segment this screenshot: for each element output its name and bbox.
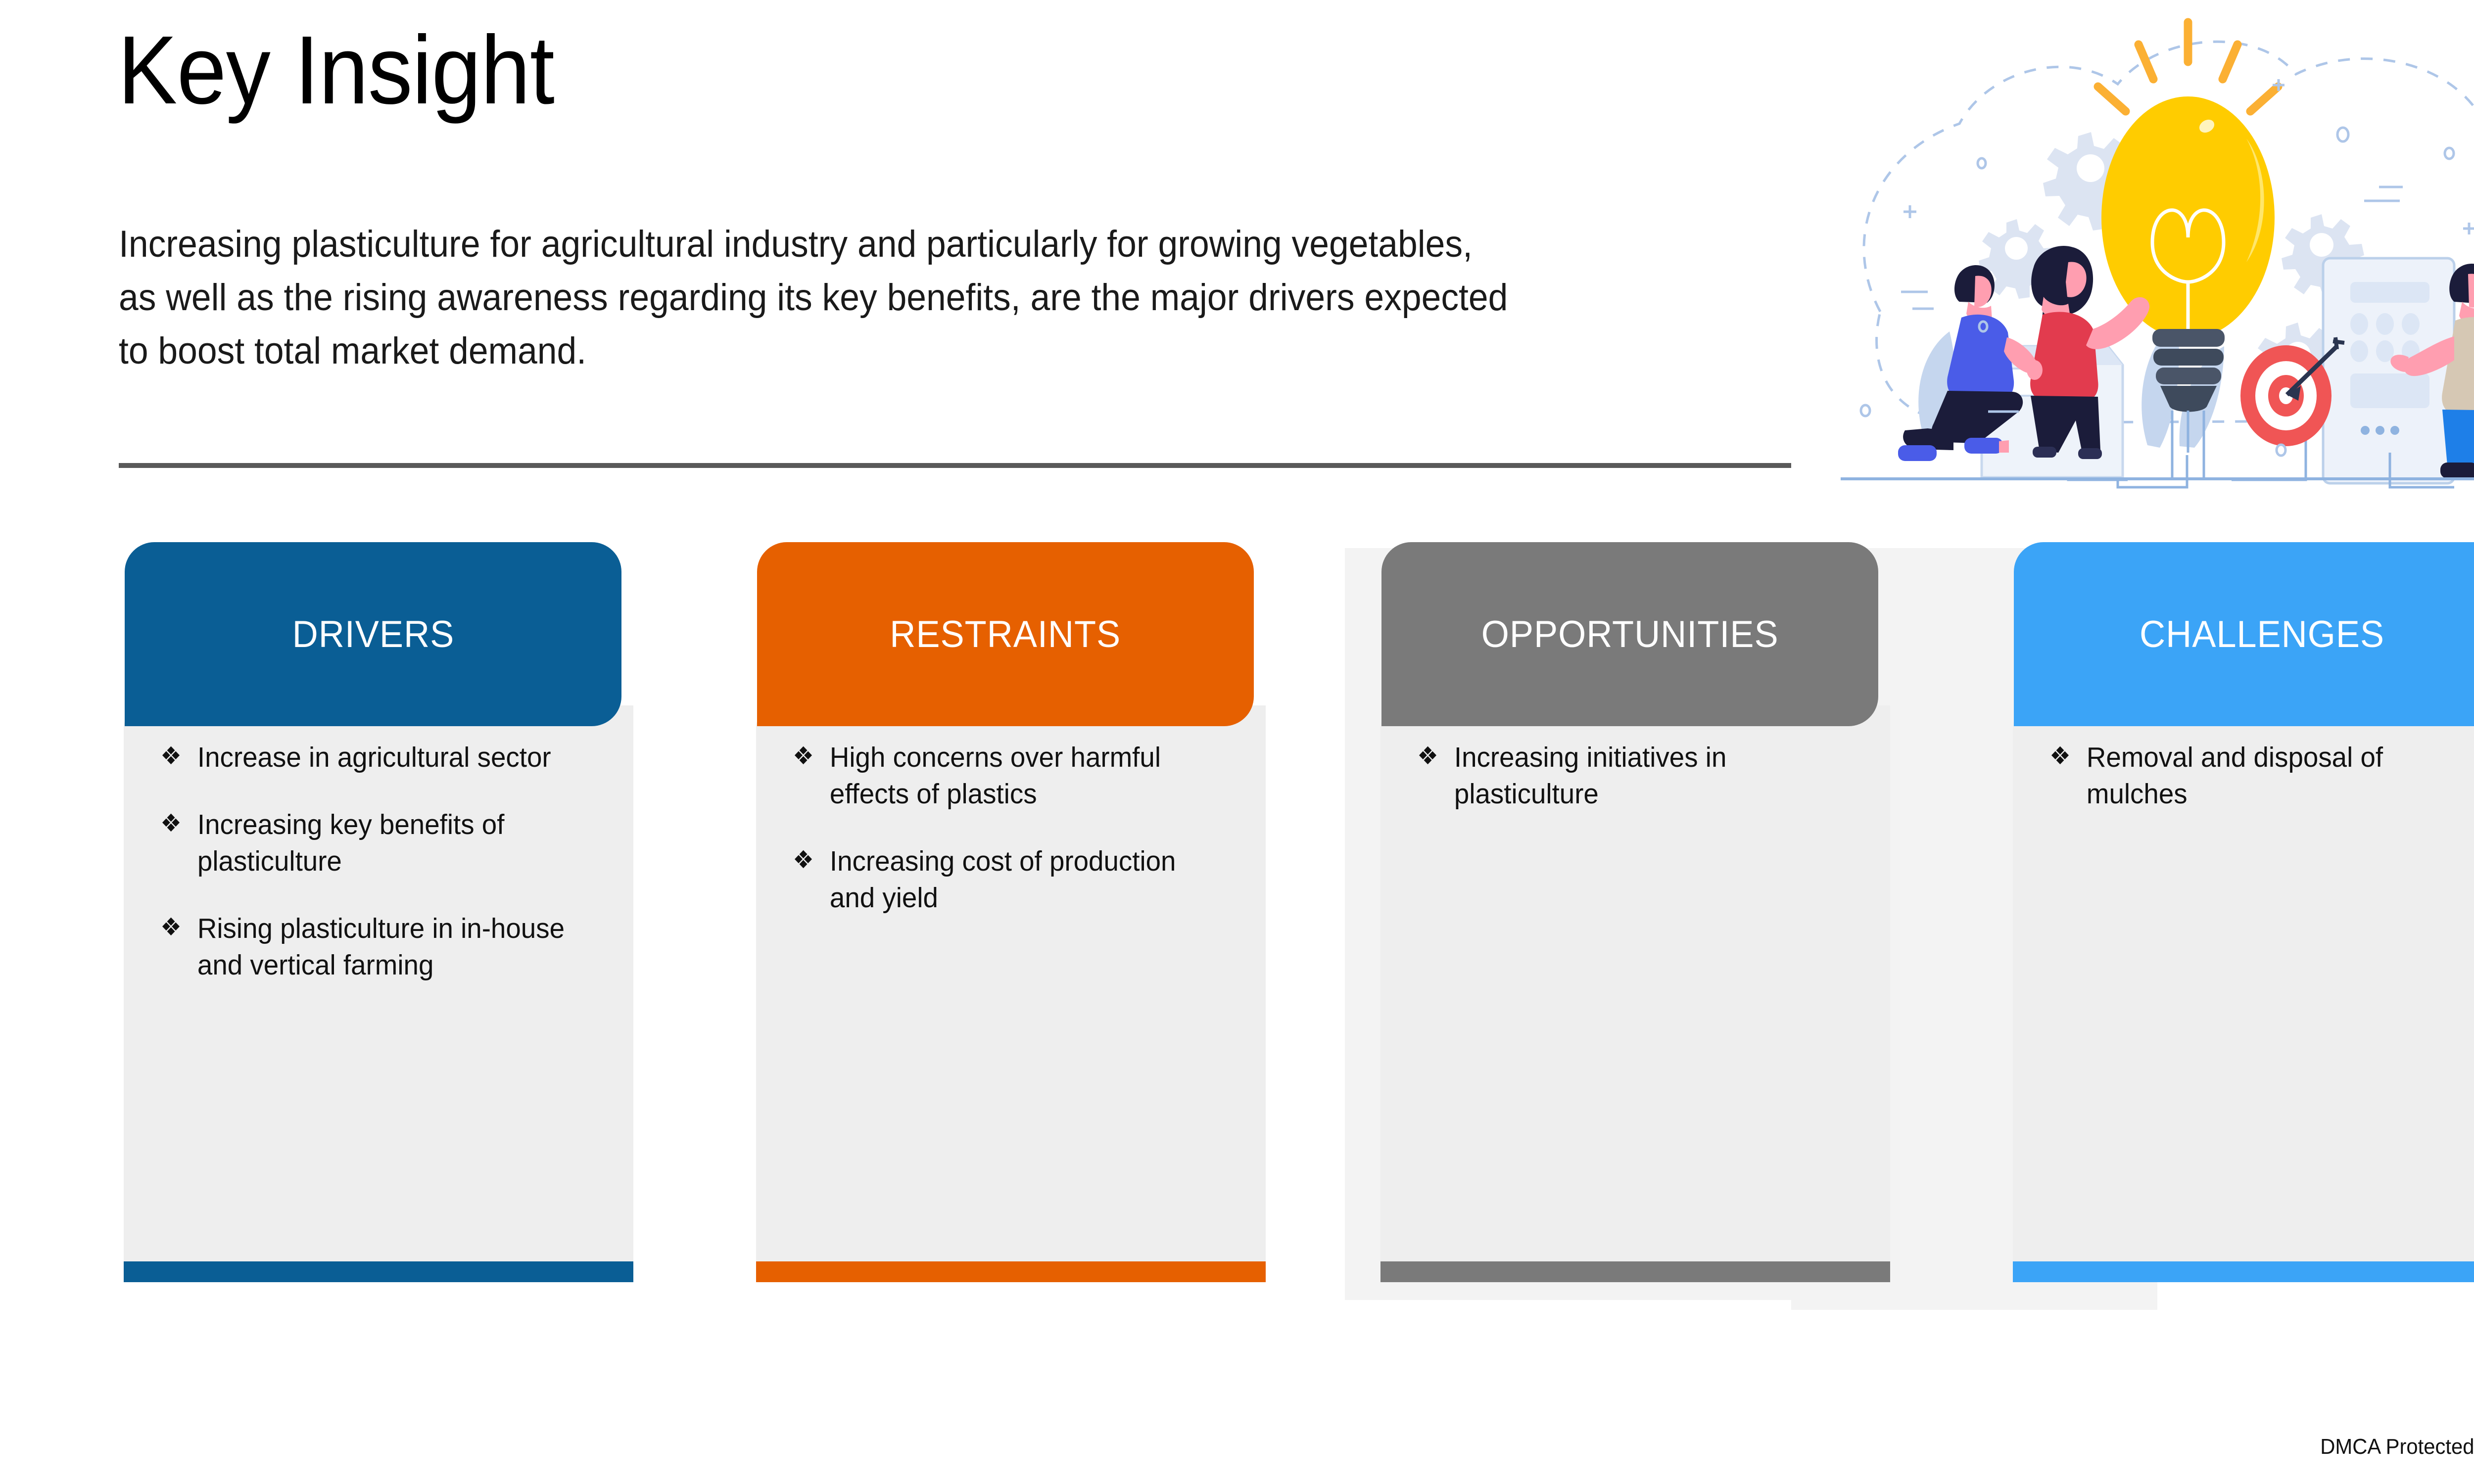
list-item: ❖Increasing cost of production and yield bbox=[793, 843, 1211, 916]
list-item: ❖Rising plasticulture in in-house and ve… bbox=[160, 910, 578, 983]
list-item-text: Rising plasticulture in in-house and ver… bbox=[197, 913, 565, 981]
diamond-bullet-icon: ❖ bbox=[2049, 740, 2071, 772]
card-challenges[interactable]: CHALLENGES ❖Removal and disposal of mulc… bbox=[2013, 542, 2474, 1284]
list-item: ❖Increase in agricultural sector bbox=[160, 739, 578, 776]
card-restraints[interactable]: RESTRAINTS ❖High concerns over harmful e… bbox=[756, 542, 1266, 1284]
card-header-opportunities[interactable]: OPPORTUNITIES bbox=[1381, 542, 1878, 726]
card-title: DRIVERS bbox=[292, 613, 454, 656]
card-accent-bar bbox=[124, 1261, 633, 1282]
list-item: ❖High concerns over harmful effects of p… bbox=[793, 739, 1211, 812]
card-bullet-list: ❖High concerns over harmful effects of p… bbox=[793, 739, 1228, 947]
diamond-bullet-icon: ❖ bbox=[1417, 740, 1438, 772]
diamond-bullet-icon: ❖ bbox=[160, 807, 182, 839]
card-header-restraints[interactable]: RESTRAINTS bbox=[757, 542, 1254, 726]
cards-row: DRIVERS ❖Increase in agricultural sector… bbox=[0, 0, 2474, 1484]
card-accent-bar bbox=[756, 1261, 1266, 1282]
card-bullet-list: ❖Increasing initiatives in plasticulture bbox=[1417, 739, 1853, 843]
card-title: RESTRAINTS bbox=[890, 613, 1121, 656]
card-accent-bar bbox=[1380, 1261, 1890, 1282]
card-title: OPPORTUNITIES bbox=[1481, 613, 1779, 656]
diamond-bullet-icon: ❖ bbox=[160, 740, 182, 772]
footer-credit: DMCA Protected © DataBridge bbox=[2321, 1435, 2474, 1459]
diamond-bullet-icon: ❖ bbox=[793, 844, 814, 876]
card-bullet-list: ❖Increase in agricultural sector ❖Increa… bbox=[160, 739, 596, 1014]
list-item: ❖Removal and disposal of mulches bbox=[2049, 739, 2468, 812]
list-item-text: Removal and disposal of mulches bbox=[2087, 742, 2383, 810]
card-bullet-list: ❖Removal and disposal of mulches bbox=[2049, 739, 2474, 843]
list-item: ❖Increasing initiatives in plasticulture bbox=[1417, 739, 1835, 812]
card-drivers[interactable]: DRIVERS ❖Increase in agricultural sector… bbox=[124, 542, 633, 1284]
card-accent-bar bbox=[2013, 1261, 2474, 1282]
list-item-text: Increasing key benefits of plasticulture bbox=[197, 809, 505, 877]
list-item-text: Increase in agricultural sector bbox=[197, 742, 551, 773]
list-item-text: High concerns over harmful effects of pl… bbox=[830, 742, 1161, 810]
card-header-drivers[interactable]: DRIVERS bbox=[125, 542, 621, 726]
diamond-bullet-icon: ❖ bbox=[160, 911, 182, 943]
card-opportunities[interactable]: OPPORTUNITIES ❖Increasing initiatives in… bbox=[1380, 542, 1890, 1284]
card-title: CHALLENGES bbox=[2140, 613, 2384, 656]
card-header-challenges[interactable]: CHALLENGES bbox=[2014, 542, 2474, 726]
diamond-bullet-icon: ❖ bbox=[793, 740, 814, 772]
list-item-text: Increasing cost of production and yield bbox=[830, 845, 1176, 914]
list-item: ❖Increasing key benefits of plasticultur… bbox=[160, 806, 578, 880]
list-item-text: Increasing initiatives in plasticulture bbox=[1454, 742, 1727, 810]
